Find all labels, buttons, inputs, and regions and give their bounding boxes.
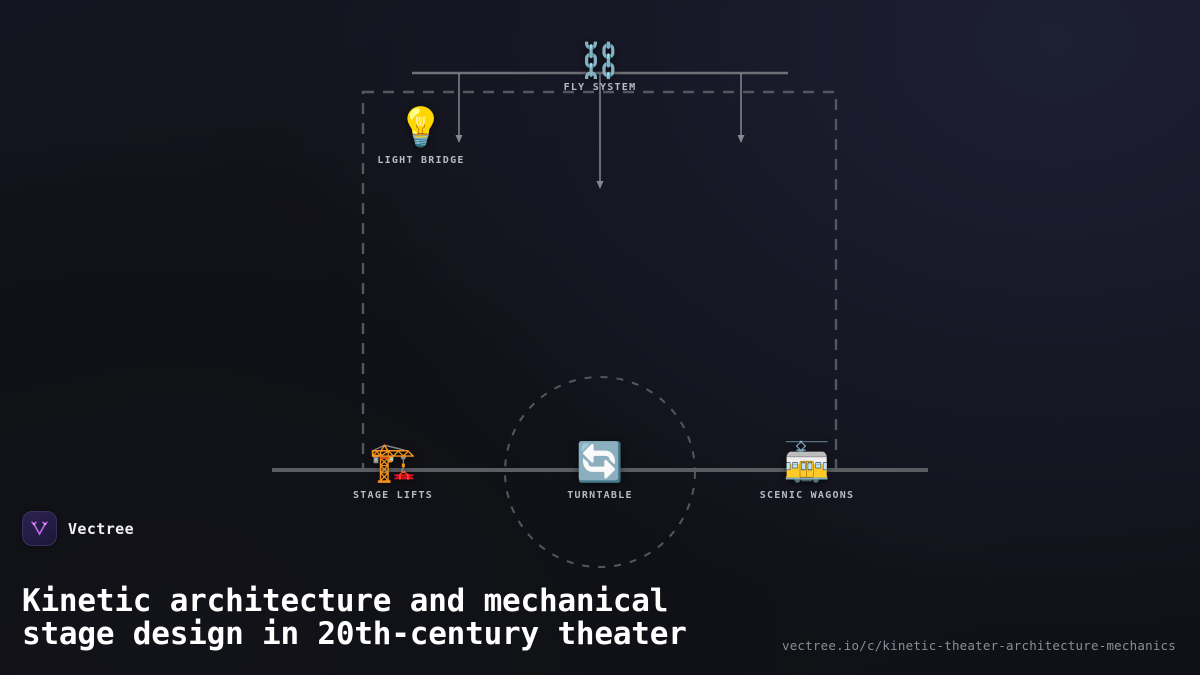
brand-row: Vectree (22, 511, 134, 546)
diagram-node-turntable-label: TURNTABLE (567, 490, 632, 501)
chains-icon: ⛓️ (579, 44, 621, 78)
diagram-node-scenic-wagons[interactable]: 🚋 SCENIC WAGONS (760, 443, 855, 501)
crane-icon: 🏗️ (369, 443, 416, 481)
diagram-vectors (0, 0, 1200, 675)
vectree-v-logo-icon (22, 511, 57, 546)
diagram-node-light-bridge-label: LIGHT BRIDGE (377, 155, 464, 166)
source-url: vectree.io/c/kinetic-theater-architectur… (782, 638, 1176, 653)
diagram-node-scenic-wagons-label: SCENIC WAGONS (760, 490, 855, 501)
diagram-node-stage-lifts-label: STAGE LIFTS (353, 490, 433, 501)
diagram-node-fly-system[interactable]: ⛓️ FLY SYSTEM (564, 44, 637, 93)
brand-name: Vectree (68, 520, 134, 538)
tram-car-icon: 🚋 (783, 443, 830, 481)
diagram-node-fly-system-label: FLY SYSTEM (564, 82, 637, 93)
diagram-node-light-bridge[interactable]: 💡 LIGHT BRIDGE (377, 108, 464, 166)
diagram-node-stage-lifts[interactable]: 🏗️ STAGE LIFTS (353, 443, 433, 501)
diagram-node-turntable[interactable]: 🔄 TURNTABLE (567, 443, 632, 501)
light-bulb-icon: 💡 (397, 108, 444, 146)
stage-machinery-diagram: ⛓️ FLY SYSTEM 💡 LIGHT BRIDGE 🏗️ STAGE LI… (0, 0, 1200, 675)
rotate-arrows-icon: 🔄 (576, 443, 623, 481)
poster-canvas: ⛓️ FLY SYSTEM 💡 LIGHT BRIDGE 🏗️ STAGE LI… (0, 0, 1200, 675)
page-title: Kinetic architecture and mechanical stag… (22, 585, 742, 650)
